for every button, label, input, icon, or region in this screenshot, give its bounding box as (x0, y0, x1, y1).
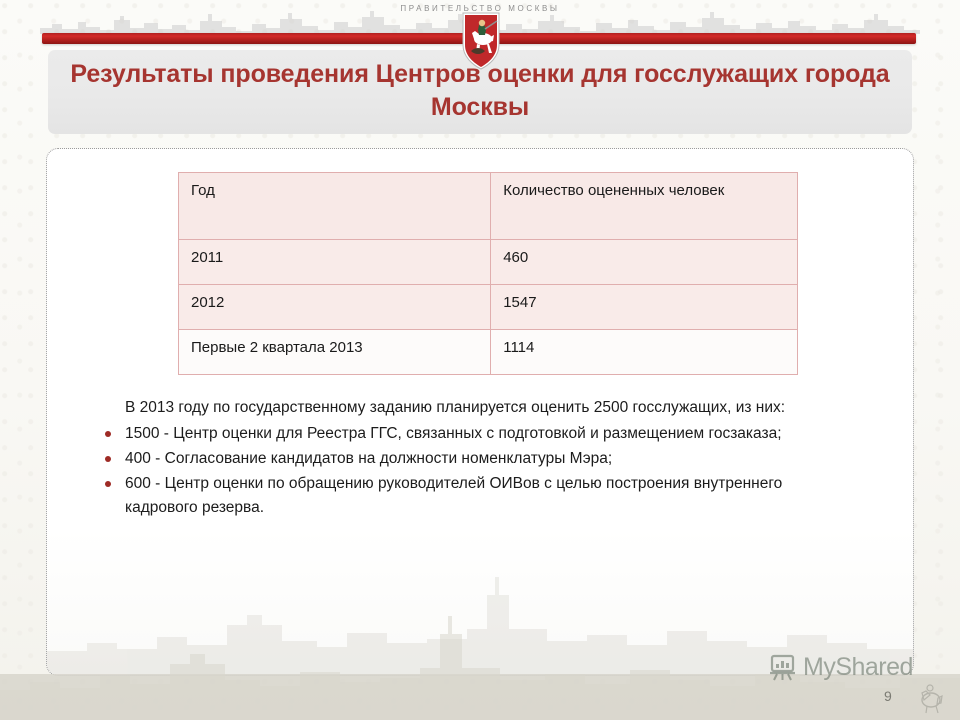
bullet-list: 1500 - Центр оценки для Реестра ГГС, свя… (100, 422, 800, 520)
watermark-label: MyShared (803, 653, 913, 682)
cell-count: 1547 (491, 285, 798, 330)
list-item: 600 - Центр оценки по обращению руководи… (100, 472, 800, 520)
lead-paragraph: В 2013 году по государственному заданию … (100, 396, 800, 420)
body-text-block: В 2013 году по государственному заданию … (100, 396, 800, 521)
list-item: 1500 - Центр оценки для Реестра ГГС, свя… (100, 422, 800, 446)
list-item-label: 1500 - Центр оценки для Реестра ГГС, свя… (125, 425, 782, 442)
table-header-count: Количество оцененных человек (491, 173, 798, 240)
table-header-year: Год (179, 173, 491, 240)
presentation-chart-icon (768, 652, 798, 682)
bullet-dot-icon (105, 431, 111, 437)
moscow-coat-of-arms-icon (461, 11, 501, 71)
table-row: 2012 1547 (179, 285, 798, 330)
bullet-dot-icon (105, 481, 111, 487)
page-number: 9 (884, 688, 892, 704)
assessment-results-table: Год Количество оцененных человек 2011 46… (178, 172, 798, 375)
list-item-label: 400 - Согласование кандидатов на должнос… (125, 450, 612, 467)
bullet-dot-icon (105, 456, 111, 462)
table-body: Год Количество оцененных человек 2011 46… (179, 173, 798, 375)
corner-emblem-icon (916, 682, 946, 714)
list-item: 400 - Согласование кандидатов на должнос… (100, 447, 800, 471)
cell-count: 1114 (491, 330, 798, 375)
table-header-row: Год Количество оцененных человек (179, 173, 798, 240)
table-row: Первые 2 квартала 2013 1114 (179, 330, 798, 375)
cell-year: 2012 (179, 285, 491, 330)
list-item-label: 600 - Центр оценки по обращению руководи… (125, 475, 782, 516)
cell-year: 2011 (179, 240, 491, 285)
cell-count: 460 (491, 240, 798, 285)
myshared-watermark: MyShared (768, 652, 913, 682)
table-row: 2011 460 (179, 240, 798, 285)
cell-year: Первые 2 квартала 2013 (179, 330, 491, 375)
slide-canvas: ПРАВИТЕЛЬСТВО МОСКВЫ Результаты проведен… (0, 0, 960, 720)
